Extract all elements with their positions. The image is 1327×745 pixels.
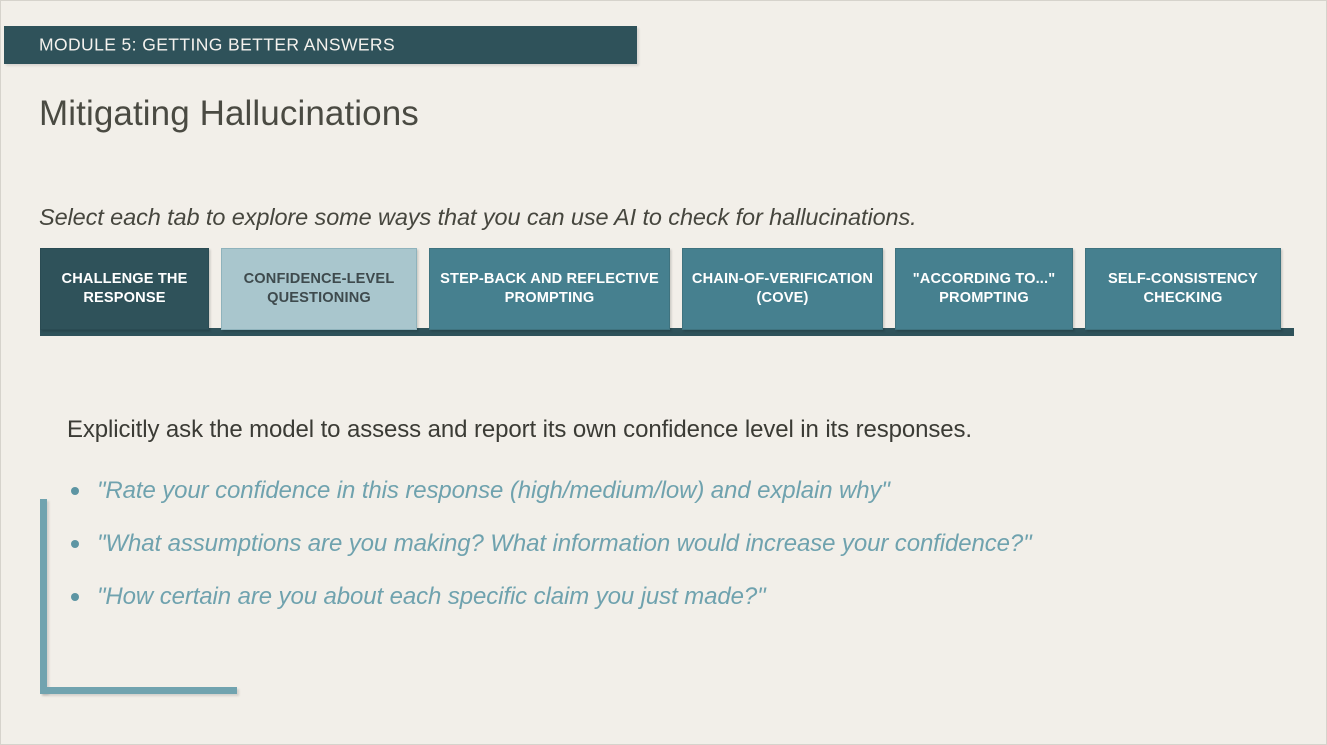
bracket-vertical-rule [40,499,47,693]
bullet-text: "How certain are you about each specific… [97,583,766,611]
bullet-list: "Rate your confidence in this response (… [67,464,1267,623]
tab-label: CONFIDENCE-LEVEL QUESTIONING [222,270,416,308]
instruction-text: Select each tab to explore some ways tha… [39,204,917,231]
tab-5[interactable]: SELF-CONSISTENCY CHECKING [1085,248,1281,330]
tab-strip: CHALLENGE THE RESPONSECONFIDENCE-LEVEL Q… [40,248,1294,340]
bullet-text: "Rate your confidence in this response (… [97,477,890,505]
module-header-bar: MODULE 5: GETTING BETTER ANSWERS [4,26,637,64]
tab-label: CHAIN-OF-VERIFICATION (COVE) [683,270,882,308]
bullet-dot-icon [71,540,79,548]
tab-label: STEP-BACK AND REFLECTIVE PROMPTING [430,270,669,308]
list-item: "What assumptions are you making? What i… [67,517,1267,570]
slide-canvas: MODULE 5: GETTING BETTER ANSWERS Mitigat… [0,0,1327,745]
bullet-text: "What assumptions are you making? What i… [97,530,1032,558]
tab-1[interactable]: CONFIDENCE-LEVEL QUESTIONING [221,248,417,330]
bullet-dot-icon [71,487,79,495]
page-title: Mitigating Hallucinations [39,94,419,134]
tab-label: CHALLENGE THE RESPONSE [41,270,208,308]
tab-0[interactable]: CHALLENGE THE RESPONSE [40,248,209,330]
bullet-dot-icon [71,593,79,601]
panel-lead-text: Explicitly ask the model to assess and r… [67,416,972,444]
tab-label: "ACCORDING TO..." PROMPTING [896,270,1072,308]
tab-4[interactable]: "ACCORDING TO..." PROMPTING [895,248,1073,330]
tab-3[interactable]: CHAIN-OF-VERIFICATION (COVE) [682,248,883,330]
list-item: "Rate your confidence in this response (… [67,464,1267,517]
list-item: "How certain are you about each specific… [67,570,1267,623]
tab-label: SELF-CONSISTENCY CHECKING [1086,270,1280,308]
module-header-label: MODULE 5: GETTING BETTER ANSWERS [39,35,395,56]
tab-2[interactable]: STEP-BACK AND REFLECTIVE PROMPTING [429,248,670,330]
bracket-horizontal-rule [40,687,237,694]
content-panel: Explicitly ask the model to assess and r… [39,406,1289,706]
